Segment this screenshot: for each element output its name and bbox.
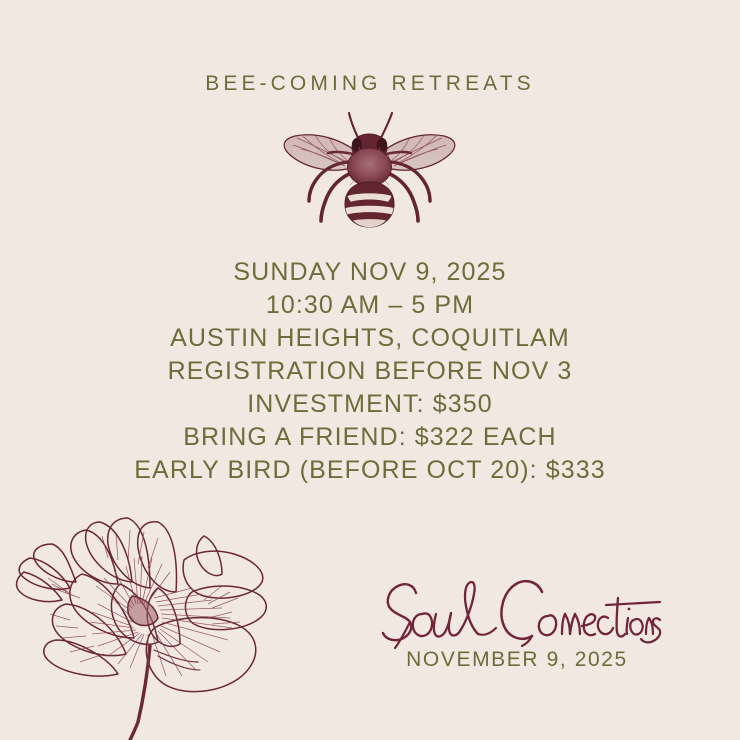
detail-line-time: 10:30 AM – 5 PM <box>0 289 740 322</box>
detail-line-early-bird: EARLY BIRD (BEFORE OCT 20): $333 <box>0 454 740 487</box>
detail-line-investment: INVESTMENT: $350 <box>0 388 740 421</box>
detail-line-bring-a-friend: BRING A FRIEND: $322 EACH <box>0 421 740 454</box>
retreat-flyer: BEE-COMING RETREATS <box>0 0 740 740</box>
brand-script-logo <box>372 572 662 650</box>
page-title: BEE-COMING RETREATS <box>0 72 740 96</box>
detail-line-registration: REGISTRATION BEFORE NOV 3 <box>0 355 740 388</box>
event-details: SUNDAY NOV 9, 2025 10:30 AM – 5 PM AUSTI… <box>0 256 740 487</box>
brand-date: NOVEMBER 9, 2025 <box>372 648 662 672</box>
detail-line-date: SUNDAY NOV 9, 2025 <box>0 256 740 289</box>
bee-icon <box>281 104 459 228</box>
flower-icon <box>8 500 286 740</box>
brand-lockup: NOVEMBER 9, 2025 <box>372 572 662 687</box>
detail-line-location: AUSTIN HEIGHTS, COQUITLAM <box>0 322 740 355</box>
